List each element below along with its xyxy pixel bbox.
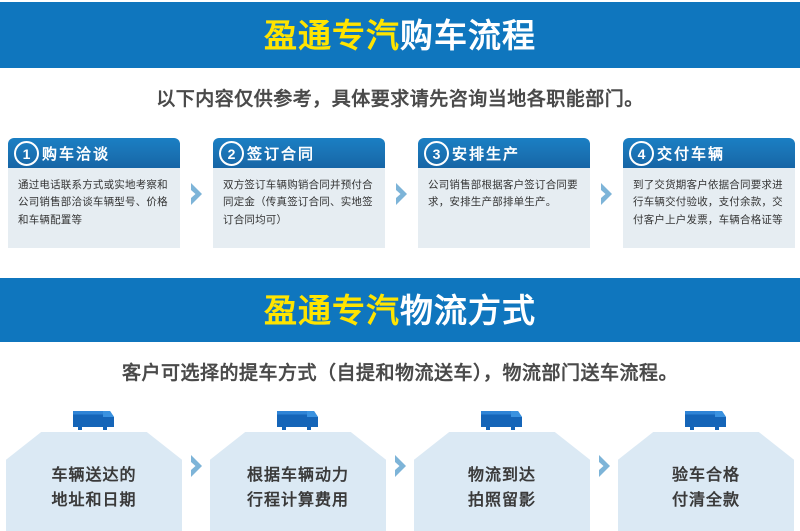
logistics-arrow-2 — [386, 408, 414, 531]
step-header-4: 4 交付车辆 — [623, 138, 795, 168]
logistics-subtitle: 客户可选择的提车方式（自提和物流送车），物流部门送车流程。 — [0, 358, 800, 385]
logistics-line2-3: 拍照留影 — [468, 489, 536, 514]
purchase-banner: 盈通专汽购车流程 — [0, 2, 800, 68]
logistics-banner-title: 盈通专汽物流方式 — [264, 294, 536, 327]
logistics-line1-2: 根据车辆动力 — [247, 464, 349, 489]
brand-name-logistics: 盈通专汽 — [264, 292, 400, 329]
truck-icon — [479, 408, 525, 434]
step-header-2: 2 签订合同 — [213, 138, 385, 168]
chevron-right-icon — [394, 455, 407, 477]
truck-icon — [275, 408, 321, 434]
logistics-line2-2: 行程计算费用 — [247, 489, 349, 514]
logistics-line1-4: 验车合格 — [672, 464, 740, 489]
step-title-3: 安排生产 — [452, 143, 520, 164]
step-title-1: 购车洽谈 — [42, 143, 110, 164]
chevron-right-icon — [598, 455, 611, 477]
logistics-shape-4: 验车合格 付清全款 — [618, 432, 794, 531]
chevron-right-icon — [190, 183, 203, 205]
purchase-banner-title: 盈通专汽购车流程 — [264, 19, 536, 52]
logistics-card-2: 根据车辆动力 行程计算费用 — [210, 408, 386, 531]
chevron-right-icon — [395, 183, 408, 205]
step-header-1: 1 购车洽谈 — [8, 138, 180, 168]
logistics-banner: 盈通专汽物流方式 — [0, 278, 800, 342]
logistics-line1-3: 物流到达 — [468, 464, 536, 489]
step-number-1: 1 — [14, 141, 39, 166]
step-title-4: 交付车辆 — [657, 143, 725, 164]
step-body-3: 公司销售部根据客户签订合同要求，安排生产部排单生产。 — [418, 168, 590, 248]
logistics-line2-1: 地址和日期 — [51, 489, 136, 514]
step-arrow-2 — [385, 138, 418, 250]
truck-icon — [71, 408, 117, 434]
step-header-3: 3 安排生产 — [418, 138, 590, 168]
truck-icon — [683, 408, 729, 434]
step-arrow-1 — [180, 138, 213, 250]
step-card-4: 4 交付车辆 到了交货期客户依据合同要求进行车辆交付验收，支付余款，交付客户上户… — [623, 138, 795, 248]
logistics-shape-3: 物流到达 拍照留影 — [414, 432, 590, 531]
chevron-right-icon — [190, 455, 203, 477]
step-card-2: 2 签订合同 双方签订车辆购销合同并预付合同定金（传真签订合同、实地签订合同均可… — [213, 138, 385, 248]
logistics-banner-subject: 物流方式 — [400, 292, 536, 329]
logistics-line1-1: 车辆送达的 — [51, 464, 136, 489]
step-card-3: 3 安排生产 公司销售部根据客户签订合同要求，安排生产部排单生产。 — [418, 138, 590, 248]
step-card-1: 1 购车洽谈 通过电话联系方式或实地考察和公司销售部洽谈车辆型号、价格和车辆配置… — [8, 138, 180, 248]
logistics-shape-2: 根据车辆动力 行程计算费用 — [210, 432, 386, 531]
chevron-right-icon — [600, 183, 613, 205]
step-body-1: 通过电话联系方式或实地考察和公司销售部洽谈车辆型号、价格和车辆配置等 — [8, 168, 180, 248]
purchase-subtitle: 以下内容仅供参考，具体要求请先咨询当地各职能部门。 — [0, 84, 800, 111]
logistics-card-1: 车辆送达的 地址和日期 — [6, 408, 182, 531]
step-arrow-3 — [590, 138, 623, 250]
purchase-banner-subject: 购车流程 — [400, 17, 536, 54]
step-body-2: 双方签订车辆购销合同并预付合同定金（传真签订合同、实地签订合同均可） — [213, 168, 385, 248]
brand-name-purchase: 盈通专汽 — [264, 17, 400, 54]
step-number-2: 2 — [219, 141, 244, 166]
logistics-arrow-3 — [590, 408, 618, 531]
step-body-4: 到了交货期客户依据合同要求进行车辆交付验收，支付余款，交付客户上户发票，车辆合格… — [623, 168, 795, 248]
logistics-shape-1: 车辆送达的 地址和日期 — [6, 432, 182, 531]
step-number-3: 3 — [424, 141, 449, 166]
purchase-steps-row: 1 购车洽谈 通过电话联系方式或实地考察和公司销售部洽谈车辆型号、价格和车辆配置… — [0, 138, 800, 250]
step-number-4: 4 — [629, 141, 654, 166]
step-title-2: 签订合同 — [247, 143, 315, 164]
logistics-card-3: 物流到达 拍照留影 — [414, 408, 590, 531]
logistics-line2-4: 付清全款 — [672, 489, 740, 514]
logistics-arrow-1 — [182, 408, 210, 531]
logistics-steps-row: 车辆送达的 地址和日期 根据车辆动力 行程计算费用 — [0, 408, 800, 531]
purchase-logistics-infographic: 盈通专汽购车流程 以下内容仅供参考，具体要求请先咨询当地各职能部门。 1 购车洽… — [0, 0, 800, 531]
logistics-card-4: 验车合格 付清全款 — [618, 408, 794, 531]
